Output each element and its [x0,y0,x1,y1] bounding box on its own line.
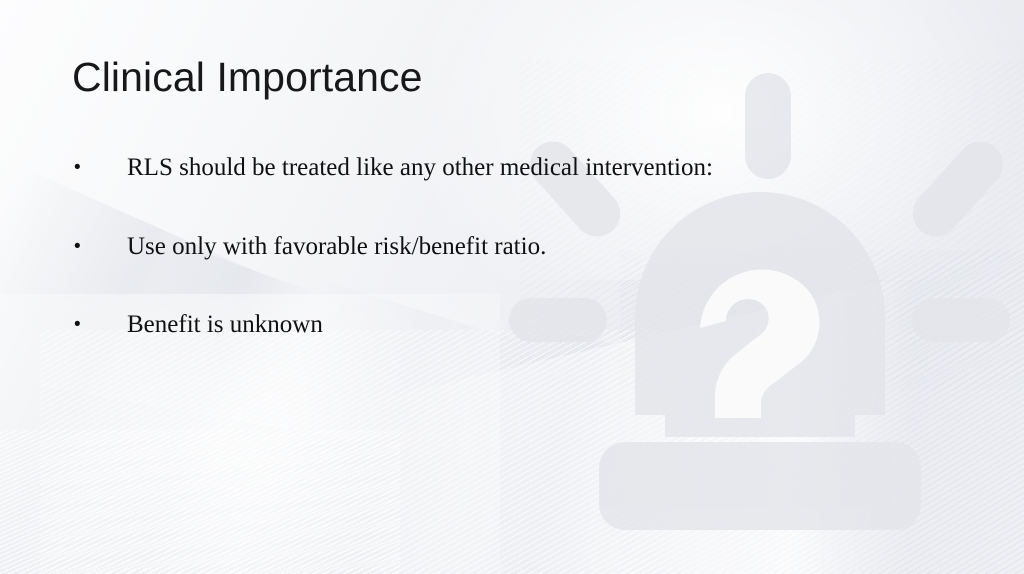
list-item-text: RLS should be treated like any other med… [127,152,970,185]
list-item: • Use only with favorable risk/benefit r… [70,231,970,264]
bullet-marker-icon: • [70,309,127,341]
bullet-marker-icon: • [70,152,127,184]
bullet-marker-icon: • [70,231,127,263]
list-item: • Benefit is unknown [70,309,970,342]
page-title: Clinical Importance [72,55,423,101]
presentation-slide: Clinical Importance • RLS should be trea… [0,0,1024,574]
bullet-list: • RLS should be treated like any other m… [70,152,970,342]
list-item-text: Benefit is unknown [127,309,970,342]
slide-content: Clinical Importance • RLS should be trea… [0,0,1024,574]
list-item-text: Use only with favorable risk/benefit rat… [127,231,970,264]
list-item: • RLS should be treated like any other m… [70,152,970,185]
